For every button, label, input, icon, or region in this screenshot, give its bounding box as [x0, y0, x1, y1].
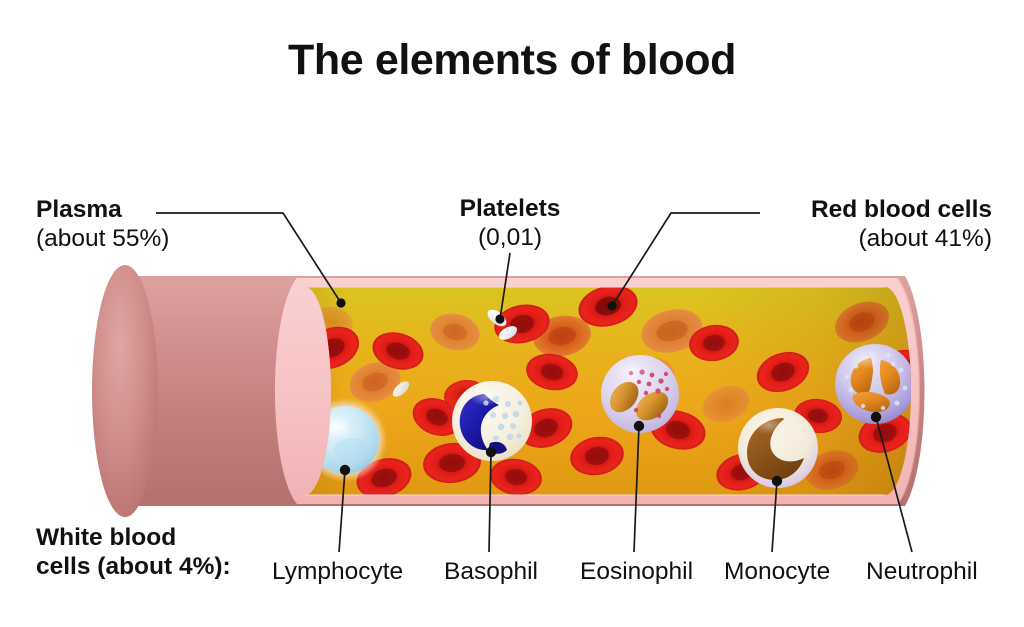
leader-dot-monocyte [772, 476, 782, 486]
blood-vessel [92, 265, 936, 517]
leader-dot-lymphocyte [340, 465, 350, 475]
leader-dot-platelets [495, 314, 504, 323]
blood-elements-diagram: The elements of blood Plasma (about 55%)… [0, 0, 1024, 627]
leader-dot-red-blood-cells [607, 301, 616, 310]
lymphocyte-nucleus [334, 438, 368, 462]
leader-dot-neutrophil [871, 412, 881, 422]
white-blood-cells-label-line2: cells (about 4%): [36, 553, 231, 580]
cell-name-monocyte: Monocyte [724, 558, 830, 586]
platelets-label-name: Platelets [460, 195, 561, 222]
plasma-label-value: (about 55%) [36, 225, 169, 252]
cell-name-basophil: Basophil [444, 558, 538, 586]
cell-name-neutrophil: Neutrophil [866, 558, 978, 586]
cell-name-lymphocyte: Lymphocyte [272, 558, 403, 586]
plasma-label: Plasma (about 55%) [36, 196, 169, 253]
platelets-label: Platelets (0,01) [435, 195, 585, 252]
leader-dot-basophil [486, 447, 496, 457]
vessel-left-cap [92, 265, 158, 517]
neutrophil-highlight [850, 351, 882, 369]
plasma-label-name: Plasma [36, 196, 122, 223]
leader-dot-eosinophil [634, 421, 644, 431]
leader-dot-plasma [336, 298, 345, 307]
page-title: The elements of blood [0, 35, 1024, 85]
red-blood-cells-label-name: Red blood cells [811, 196, 992, 223]
platelets-label-value: (0,01) [478, 224, 542, 251]
basophil-highlight [469, 388, 503, 406]
red-blood-cells-label-value: (about 41%) [859, 225, 992, 252]
eosinophil-highlight [616, 361, 648, 379]
cell-name-eosinophil: Eosinophil [580, 558, 693, 586]
red-blood-cells-label: Red blood cells (about 41%) [757, 196, 992, 253]
white-blood-cells-label-line1: White blood [36, 524, 176, 551]
white-blood-cells-label: White blood cells (about 4%): [36, 524, 231, 581]
monocyte-highlight [753, 416, 785, 434]
